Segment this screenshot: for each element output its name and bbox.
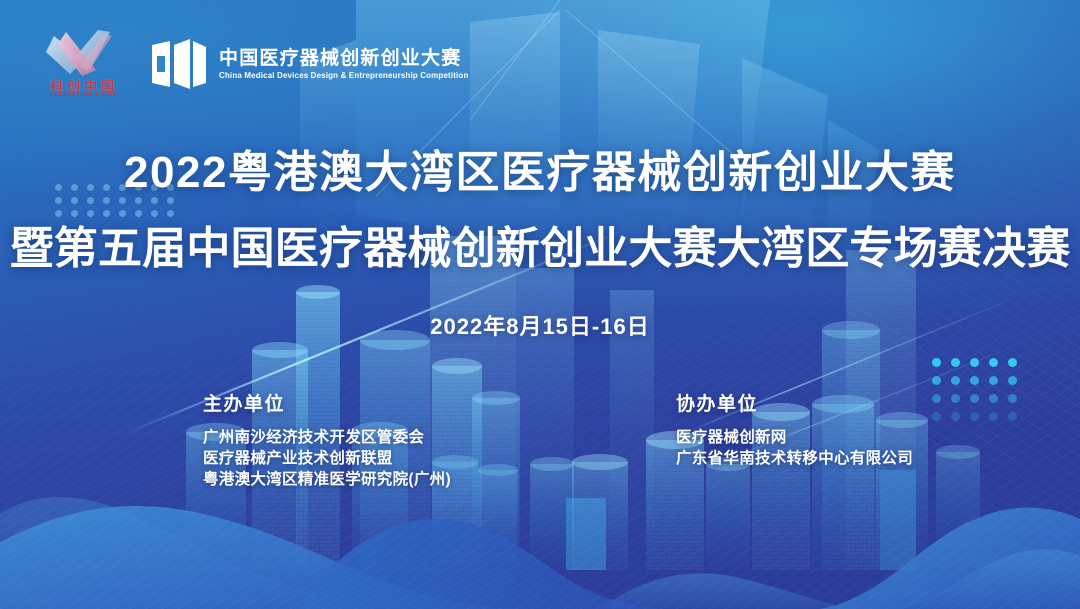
competition-name-en: China Medical Devices Design & Entrepren… [219,71,469,80]
event-poster: 科创中国 INNOVATION CHINA 中国医疗器械创新创业大赛 China… [0,0,1080,609]
event-date: 2022年8月15日-16日 [0,309,1080,341]
bird-mark-icon [40,26,126,80]
host-organizer-item: 医疗器械产业技术创新联盟 [203,448,451,469]
logo-bar: 科创中国 INNOVATION CHINA 中国医疗器械创新创业大赛 China… [40,26,476,102]
co-organizer-item: 广东省华南技术转移中心有限公司 [676,448,913,469]
competition-logo: 中国医疗器械创新创业大赛 China Medical Devices Desig… [150,39,476,89]
poster-title-line1: 2022粤港澳大湾区医疗器械创新创业大赛 [0,136,1080,200]
co-organizer-item: 医疗器械创新网 [676,427,913,448]
innovation-china-logo: 科创中国 INNOVATION CHINA [40,26,126,102]
dot-grid-right [932,358,1027,430]
bottom-waves [0,497,1080,609]
open-door-mark-icon [150,39,208,89]
host-organizer-item: 广州南沙经济技术开发区管委会 [203,427,451,448]
poster-title-line2: 暨第五届中国医疗器械创新创业大赛大湾区专场赛决赛 [0,212,1080,276]
competition-name-cn: 中国医疗器械创新创业大赛 [219,48,476,69]
co-organizer-heading: 协办单位 [676,389,913,416]
innovation-china-en: INNOVATION CHINA [38,92,130,98]
host-organizer-item: 粤港澳大湾区精准医学研究院(广州) [203,469,451,490]
co-organizer-block: 协办单位 医疗器械创新网 广东省华南技术转移中心有限公司 [676,389,913,469]
host-organizer-block: 主办单位 广州南沙经济技术开发区管委会 医疗器械产业技术创新联盟 粤港澳大湾区精… [203,389,451,490]
host-organizer-heading: 主办单位 [203,389,451,416]
